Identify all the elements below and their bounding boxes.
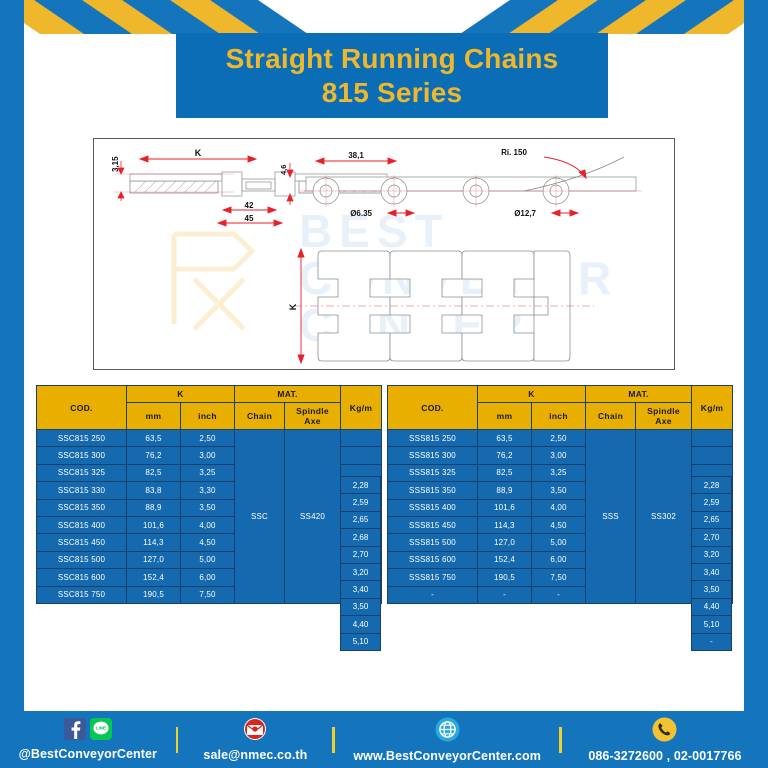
website-url: www.BestConveyorCenter.com: [353, 749, 541, 763]
kgm-row: -: [692, 633, 732, 650]
sss-table-body: SSS815 25063,52,50SSSSS302SSS815 30076,2…: [388, 430, 733, 604]
header-inch: inch: [532, 403, 586, 430]
kgm-row: 2,70: [341, 546, 381, 563]
kgm-row: 2,70: [692, 529, 732, 546]
header-mat: MAT.: [235, 386, 341, 403]
header-chain: Chain: [586, 403, 636, 430]
dim-pitch: 38,1: [348, 151, 364, 160]
cell-mm: 127,0: [478, 534, 532, 551]
cell-kgm: 2,59: [341, 494, 381, 511]
header-kgm: Kg/m: [692, 386, 733, 430]
spec-tables: COD. K MAT. Kg/m mm inch Chain Spindle A…: [36, 385, 732, 650]
cell-inch: 4,50: [532, 516, 586, 533]
table-row: SSS815 25063,52,50SSSSS302: [388, 430, 733, 447]
page-title-box: Straight Running Chains 815 Series: [176, 33, 608, 118]
cell-cod: SSS815 750: [388, 569, 478, 586]
cell-kgm: 5,10: [692, 616, 732, 633]
cell-mm: 88,9: [127, 499, 181, 516]
kgm-row: 5,10: [341, 633, 381, 650]
kgm-row: 3,50: [692, 581, 732, 598]
cell-inch: 7,50: [532, 569, 586, 586]
cell-mm: 190,5: [127, 586, 181, 603]
cell-cod: SSS815 350: [388, 482, 478, 499]
footer-contact-bar: LINE @BestConveyorCenter sale@nmec.co.th: [0, 711, 768, 768]
cell-kgm-spacer: [341, 447, 382, 464]
cell-mm: 152,4: [478, 551, 532, 568]
table-header-row-1: COD. K MAT. Kg/m: [388, 386, 733, 403]
phone-icon[interactable]: [652, 717, 677, 747]
email-icon[interactable]: [243, 717, 267, 746]
cell-inch: -: [532, 586, 586, 603]
cell-mm: 152,4: [127, 569, 181, 586]
cell-cod: SSC815 750: [37, 586, 127, 603]
kgm-row: 3,50: [341, 598, 381, 615]
cell-spindle-material: SS302: [636, 430, 692, 604]
cell-inch: 3,30: [181, 482, 235, 499]
header-mm: mm: [478, 403, 532, 430]
header-inch: inch: [181, 403, 235, 430]
frame-rail-left: [0, 0, 24, 711]
cell-cod: SSS815 325: [388, 464, 478, 481]
page-title-line2: 815 Series: [322, 76, 463, 109]
footer-social[interactable]: LINE @BestConveyorCenter: [0, 718, 176, 761]
plan-view-drawing: K: [288, 249, 594, 363]
cell-kgm: 2,65: [341, 511, 381, 528]
cell-cod: SSS815 600: [388, 551, 478, 568]
cell-kgm-spacer: [341, 430, 382, 447]
page-title-line1: Straight Running Chains: [226, 42, 559, 75]
cell-cod: SSC815 250: [37, 430, 127, 447]
cell-mm: 114,3: [478, 516, 532, 533]
header-k: K: [127, 386, 235, 403]
dim-height: 4,6: [279, 165, 288, 175]
cell-inch: 2,50: [181, 430, 235, 447]
sss-kgm-column: 2,282,592,652,703,203,403,504,405,10-: [691, 476, 732, 651]
kgm-row: 5,10: [692, 616, 732, 633]
cell-inch: 4,00: [532, 499, 586, 516]
cell-inch: 6,00: [532, 551, 586, 568]
ssc-spec-table: COD. K MAT. Kg/m mm inch Chain Spindle A…: [36, 385, 382, 604]
cell-inch: 4,50: [181, 534, 235, 551]
cell-kgm: 5,10: [341, 633, 381, 650]
dim-42: 42: [245, 201, 254, 210]
cell-mm: 127,0: [127, 551, 181, 568]
cell-mm: 82,5: [127, 464, 181, 481]
cell-mm: 114,3: [127, 534, 181, 551]
kgm-row: 4,40: [692, 598, 732, 615]
datasheet-page: Straight Running Chains 815 Series BEST …: [0, 0, 768, 768]
cell-chain-material: SSS: [586, 430, 636, 604]
cell-inch: 3,25: [532, 464, 586, 481]
email-address: sale@nmec.co.th: [203, 748, 307, 762]
cell-cod: SSS815 300: [388, 447, 478, 464]
cell-mm: 63,5: [127, 430, 181, 447]
header-spindle-axe: Spindle Axe: [636, 403, 692, 430]
cell-mm: 76,2: [127, 447, 181, 464]
ssc-kgm-column: 2,282,592,652,682,703,203,403,504,405,10: [340, 476, 381, 651]
cell-inch: 5,00: [181, 551, 235, 568]
kgm-row: 3,40: [692, 563, 732, 580]
header-k: K: [478, 386, 586, 403]
cell-kgm-spacer: [692, 430, 733, 447]
cell-kgm: 3,50: [341, 598, 381, 615]
cell-inch: 2,50: [532, 430, 586, 447]
table-header-row-1: COD. K MAT. Kg/m: [37, 386, 382, 403]
sss-table-wrapper: COD. K MAT. Kg/m mm inch Chain Spindle A…: [387, 385, 732, 650]
cell-cod: SSC815 600: [37, 569, 127, 586]
cell-mm: 190,5: [478, 569, 532, 586]
svg-text:BEST: BEST: [299, 205, 450, 257]
kgm-row: 4,40: [341, 616, 381, 633]
dim-thickness: 3,15: [111, 156, 120, 172]
line-icon[interactable]: LINE: [90, 718, 112, 745]
dim-radius: Ri. 150: [501, 148, 527, 157]
cell-cod: -: [388, 586, 478, 603]
cell-cod: SSS815 500: [388, 534, 478, 551]
cell-cod: SSC815 325: [37, 464, 127, 481]
cell-inch: 4,00: [181, 516, 235, 533]
ssc-table-wrapper: COD. K MAT. Kg/m mm inch Chain Spindle A…: [36, 385, 381, 650]
svg-text:LINE: LINE: [96, 726, 106, 731]
cell-kgm: 2,28: [692, 477, 732, 494]
cell-inch: 3,00: [181, 447, 235, 464]
cell-kgm: 3,20: [692, 546, 732, 563]
cell-chain-material: SSC: [235, 430, 285, 604]
cell-inch: 3,50: [181, 499, 235, 516]
cell-cod: SSC815 350: [37, 499, 127, 516]
cell-kgm: 3,20: [341, 563, 381, 580]
header-kgm: Kg/m: [341, 386, 382, 430]
facebook-icon[interactable]: [64, 718, 86, 745]
sss-spec-table: COD. K MAT. Kg/m mm inch Chain Spindle A…: [387, 385, 733, 604]
cell-mm: 82,5: [478, 464, 532, 481]
cell-kgm: 3,50: [692, 581, 732, 598]
footer-email[interactable]: sale@nmec.co.th: [178, 717, 332, 762]
ssc-table-body: SSC815 25063,52,50SSCSS420SSC815 30076,2…: [37, 430, 382, 604]
kgm-row: 3,40: [341, 581, 381, 598]
phone-numbers: 086-3272600 , 02-0017766: [588, 749, 741, 763]
cell-mm: 101,6: [127, 516, 181, 533]
dim-k-side: K: [195, 148, 202, 158]
cell-mm: 63,5: [478, 430, 532, 447]
cell-mm: 76,2: [478, 447, 532, 464]
technical-drawing-panel: BEST CONVEYOR CENTER: [93, 138, 675, 370]
header-mm: mm: [127, 403, 181, 430]
kgm-row: 2,68: [341, 529, 381, 546]
cell-spindle-material: SS420: [285, 430, 341, 604]
cell-inch: 3,50: [532, 482, 586, 499]
cell-inch: 3,00: [532, 447, 586, 464]
cell-inch: 3,25: [181, 464, 235, 481]
dim-hole-large: Ø12,7: [514, 209, 536, 218]
cell-cod: SSS815 400: [388, 499, 478, 516]
cell-cod: SSS815 450: [388, 516, 478, 533]
header-cod: COD.: [37, 386, 127, 430]
cell-cod: SSC815 300: [37, 447, 127, 464]
globe-icon[interactable]: [435, 717, 460, 747]
kgm-row: 2,59: [341, 494, 381, 511]
cell-cod: SSC815 500: [37, 551, 127, 568]
cell-kgm: 3,40: [341, 581, 381, 598]
header-cod: COD.: [388, 386, 478, 430]
header-spindle-axe: Spindle Axe: [285, 403, 341, 430]
footer-phone[interactable]: 086-3272600 , 02-0017766: [562, 717, 768, 763]
cell-mm: 101,6: [478, 499, 532, 516]
dim-45: 45: [245, 214, 254, 223]
cell-kgm: 2,28: [341, 477, 381, 494]
cell-kgm: 4,40: [341, 616, 381, 633]
cell-kgm: 2,70: [692, 529, 732, 546]
dim-k-plan: K: [288, 303, 298, 310]
cell-kgm: 2,68: [341, 529, 381, 546]
cell-inch: 5,00: [532, 534, 586, 551]
cell-mm: 83,8: [127, 482, 181, 499]
cell-kgm: -: [692, 633, 732, 650]
cell-cod: SSC815 330: [37, 482, 127, 499]
kgm-row: 2,59: [692, 494, 732, 511]
cell-mm: -: [478, 586, 532, 603]
header-chain: Chain: [235, 403, 285, 430]
cell-kgm-spacer: [692, 447, 733, 464]
kgm-row: 3,20: [692, 546, 732, 563]
dim-hole-small: Ø6.35: [350, 209, 372, 218]
cell-inch: 6,00: [181, 569, 235, 586]
cell-cod: SSS815 250: [388, 430, 478, 447]
table-row: SSC815 25063,52,50SSCSS420: [37, 430, 382, 447]
header-mat: MAT.: [586, 386, 692, 403]
kgm-row: 2,28: [341, 477, 381, 494]
cell-kgm: 2,65: [692, 511, 732, 528]
cell-inch: 7,50: [181, 586, 235, 603]
kgm-row: 2,65: [341, 511, 381, 528]
cell-kgm: 3,40: [692, 563, 732, 580]
kgm-row: 2,65: [692, 511, 732, 528]
kgm-row: 3,20: [341, 563, 381, 580]
frame-rail-right: [744, 0, 768, 711]
cell-cod: SSC815 400: [37, 516, 127, 533]
cell-cod: SSC815 450: [37, 534, 127, 551]
cell-kgm: 2,70: [341, 546, 381, 563]
cell-mm: 88,9: [478, 482, 532, 499]
facebook-handle: @BestConveyorCenter: [19, 747, 157, 761]
cell-kgm: 4,40: [692, 598, 732, 615]
footer-website[interactable]: www.BestConveyorCenter.com: [335, 717, 559, 763]
cell-kgm: 2,59: [692, 494, 732, 511]
kgm-row: 2,28: [692, 477, 732, 494]
